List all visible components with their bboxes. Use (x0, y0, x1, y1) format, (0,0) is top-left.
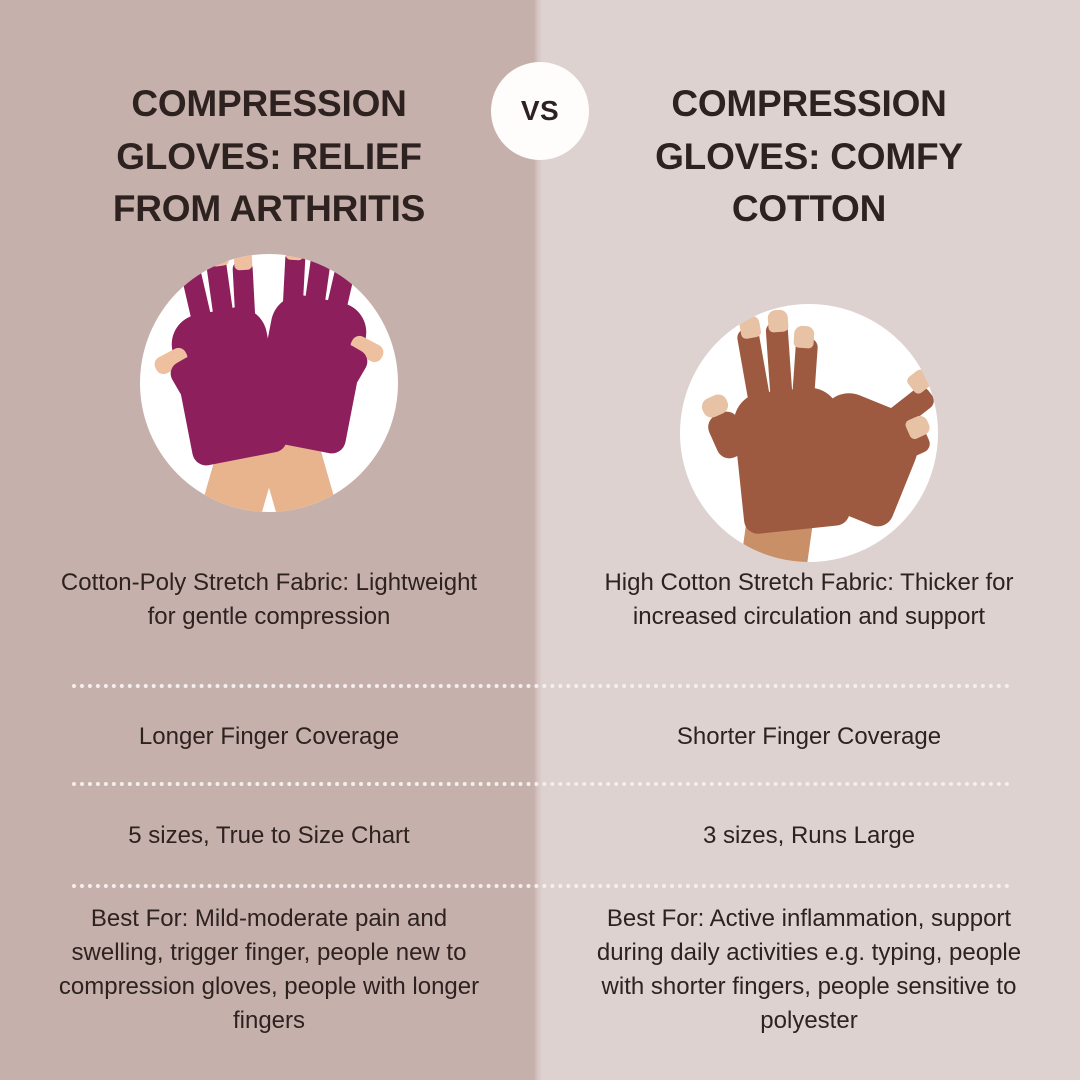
right-product-title: Compression Gloves: Comfy Cotton (594, 78, 1024, 236)
right-spec-best-for: Best For: Active inflammation, support d… (589, 902, 1029, 1038)
left-product-title: Compression Gloves: Relief from Arthriti… (59, 78, 479, 236)
left-spec-best-for: Best For: Mild-moderate pain and swellin… (49, 902, 489, 1038)
glove-finger-icon (282, 254, 305, 316)
versus-badge: VS (491, 62, 589, 160)
fingertip-icon (793, 325, 814, 348)
burgundy-gloves-illustration (140, 254, 398, 512)
divider-rule-3 (72, 884, 1010, 888)
fingertip-icon (738, 314, 762, 339)
left-spec-coverage: Longer Finger Coverage (49, 720, 489, 754)
divider-rule-1 (72, 684, 1010, 688)
fingertip-icon (233, 254, 252, 270)
spec-row-best-for: Best For: Mild-moderate pain and swellin… (0, 902, 1080, 1038)
fingertip-icon (209, 254, 230, 267)
left-spec-sizing: 5 sizes, True to Size Chart (49, 819, 489, 853)
left-spec-fabric: Cotton-Poly Stretch Fabric: Lightweight … (49, 566, 489, 634)
fingertip-icon (767, 309, 788, 332)
divider-rule-2 (72, 782, 1010, 786)
right-spec-sizing: 3 sizes, Runs Large (589, 819, 1029, 853)
left-product-image[interactable] (140, 254, 398, 512)
fingertip-icon (285, 254, 304, 260)
fingertip-icon (905, 366, 935, 395)
versus-badge-label: VS (521, 95, 559, 127)
fingertip-icon (184, 254, 206, 276)
glove-front-icon (731, 384, 851, 534)
spec-row-coverage: Longer Finger Coverage Shorter Finger Co… (0, 720, 1080, 754)
glove-finger-icon (765, 321, 792, 400)
spec-row-sizing: 5 sizes, True to Size Chart 3 sizes, Run… (0, 819, 1080, 853)
spec-row-fabric: Cotton-Poly Stretch Fabric: Lightweight … (0, 566, 1080, 634)
right-product-image[interactable] (680, 304, 938, 562)
right-spec-coverage: Shorter Finger Coverage (589, 720, 1029, 754)
brown-gloves-illustration (680, 304, 938, 562)
right-spec-fabric: High Cotton Stretch Fabric: Thicker for … (589, 566, 1029, 634)
comparison-infographic: Compression Gloves: Relief from Arthriti… (0, 0, 1080, 1080)
